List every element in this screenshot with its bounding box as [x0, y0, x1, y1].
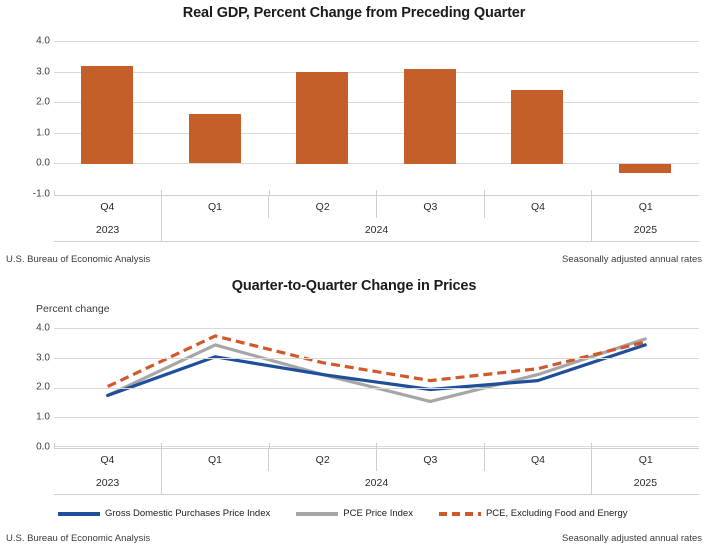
gdp-bar-q1-2024[interactable]: [189, 114, 241, 163]
gdp-quarter-cell-4: Q4: [485, 196, 593, 218]
prices-legend: Gross Domestic Purchases Price Index PCE…: [58, 508, 628, 519]
gdp-bar-q2-2024[interactable]: [296, 72, 348, 164]
prices-quarter-cell-1: Q1: [162, 449, 270, 471]
prices-quarter-cell-0: Q4: [54, 449, 162, 471]
legend-label-gross-domestic-purchases: Gross Domestic Purchases Price Index: [105, 508, 270, 519]
prices-ytick-2: 2.0: [36, 382, 50, 393]
gdp-chart-title: Real GDP, Percent Change from Preceding …: [0, 5, 708, 21]
prices-ytick-4: 4.0: [36, 323, 50, 334]
prices-note-label: Seasonally adjusted annual rates: [562, 533, 702, 544]
legend-swatch-blue-icon: [58, 512, 100, 516]
prices-ytick-3: 3.0: [36, 353, 50, 364]
prices-gridline-2: [54, 388, 699, 389]
gdp-source-label: U.S. Bureau of Economic Analysis: [6, 254, 150, 265]
gdp-quarter-cell-5: Q1: [592, 196, 699, 218]
gdp-bar-q4-2023[interactable]: [81, 66, 133, 164]
prices-category-table: Q4 Q1 Q2 Q3 Q4 Q1 2023 2024 2025: [54, 448, 699, 495]
prices-y-axis-title: Percent change: [36, 303, 110, 315]
gdp-year-cell-2024: 2024: [162, 218, 592, 241]
legend-swatch-orange-dashed-icon: [439, 512, 481, 516]
gdp-category-table: Q4 Q1 Q2 Q3 Q4 Q1 2023 2024 2025: [54, 195, 699, 242]
prices-quarter-cell-4: Q4: [485, 449, 593, 471]
gdp-bars: [54, 41, 699, 194]
gdp-ytick-neg1: -1.0: [33, 189, 50, 200]
prices-ytick-1: 1.0: [36, 412, 50, 423]
gdp-year-row: 2023 2024 2025: [54, 218, 699, 241]
prices-footer: U.S. Bureau of Economic Analysis Seasona…: [0, 533, 708, 544]
gdp-bar-q4-2024[interactable]: [511, 90, 563, 164]
gdp-bar-q1-2025[interactable]: [619, 164, 671, 173]
gdp-quarter-cell-1: Q1: [162, 196, 270, 218]
gdp-ytick-3: 3.0: [36, 67, 50, 78]
gdp-year-cell-2025: 2025: [592, 218, 699, 241]
series-pce-excluding-food-energy-line[interactable]: [108, 336, 646, 387]
prices-year-row: 2023 2024 2025: [54, 471, 699, 494]
prices-year-cell-2025: 2025: [592, 471, 699, 494]
charts-page: Real GDP, Percent Change from Preceding …: [0, 0, 708, 549]
gdp-quarter-row: Q4 Q1 Q2 Q3 Q4 Q1: [54, 196, 699, 218]
gdp-quarter-cell-2: Q2: [269, 196, 377, 218]
prices-year-cell-2023: 2023: [54, 471, 162, 494]
prices-chart-title: Quarter-to-Quarter Change in Prices: [0, 278, 708, 294]
prices-quarter-cell-5: Q1: [592, 449, 699, 471]
prices-y-axis-labels: 4.0 3.0 2.0 1.0 0.0: [6, 322, 50, 454]
legend-swatch-gray-icon: [296, 512, 338, 516]
prices-gridline-4: [54, 328, 699, 329]
legend-item-gross-domestic-purchases[interactable]: Gross Domestic Purchases Price Index: [58, 508, 270, 519]
prices-gridline-1: [54, 417, 699, 418]
gdp-ytick-4: 4.0: [36, 36, 50, 47]
legend-item-pce-excluding-food-energy[interactable]: PCE, Excluding Food and Energy: [439, 508, 628, 519]
gdp-quarter-cell-0: Q4: [54, 196, 162, 218]
gdp-ytick-2: 2.0: [36, 97, 50, 108]
legend-label-pce-excluding-food-energy: PCE, Excluding Food and Energy: [486, 508, 628, 519]
prices-year-cell-2024: 2024: [162, 471, 592, 494]
prices-gridline-3: [54, 358, 699, 359]
gdp-y-axis-labels: 4.0 3.0 2.0 1.0 0.0 -1.0: [6, 36, 50, 200]
gdp-ytick-1: 1.0: [36, 128, 50, 139]
gdp-quarter-cell-3: Q3: [377, 196, 485, 218]
gdp-plot-area: [54, 41, 699, 194]
legend-item-pce-price-index[interactable]: PCE Price Index: [296, 508, 413, 519]
gdp-footer: U.S. Bureau of Economic Analysis Seasona…: [0, 254, 708, 265]
gdp-note-label: Seasonally adjusted annual rates: [562, 254, 702, 265]
legend-label-pce-price-index: PCE Price Index: [343, 508, 413, 519]
prices-plot-area: [54, 328, 699, 447]
gdp-year-cell-2023: 2023: [54, 218, 162, 241]
prices-ytick-0: 0.0: [36, 442, 50, 453]
prices-quarter-row: Q4 Q1 Q2 Q3 Q4 Q1: [54, 449, 699, 471]
gdp-ytick-0: 0.0: [36, 158, 50, 169]
prices-quarter-cell-2: Q2: [269, 449, 377, 471]
gdp-bar-q3-2024[interactable]: [404, 69, 456, 164]
prices-quarter-cell-3: Q3: [377, 449, 485, 471]
prices-source-label: U.S. Bureau of Economic Analysis: [6, 533, 150, 544]
